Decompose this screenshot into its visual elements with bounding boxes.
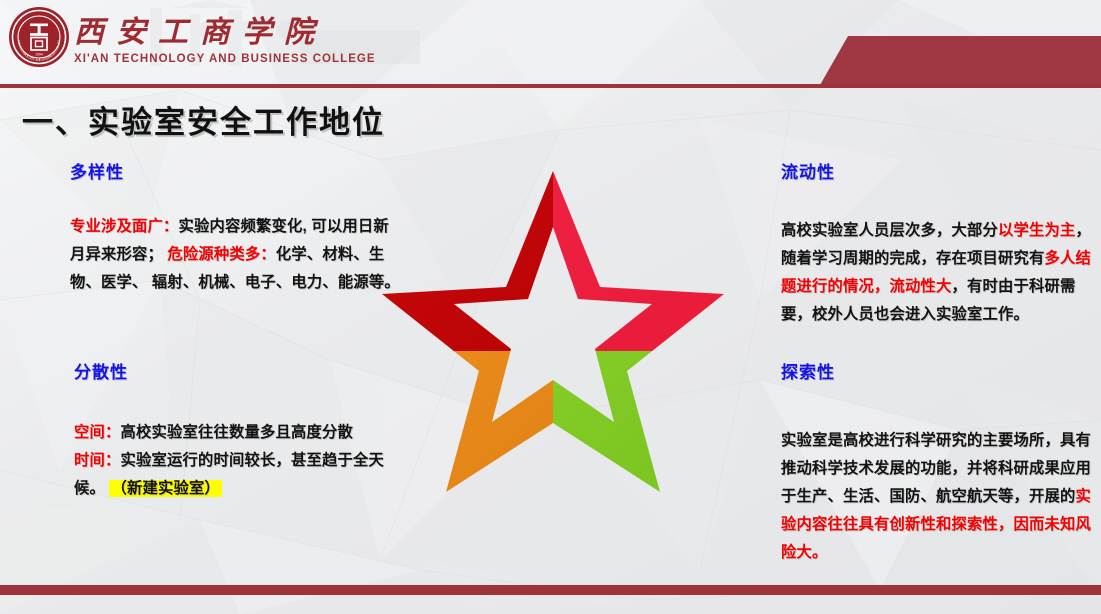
block-body-mobility: 高校实验室人员层次多，大部分以学生为主，随着学习周期的完成，存在项目研究有多人结… — [781, 217, 1101, 329]
block-body-diversity: 专业涉及面广：实验内容频繁变化, 可以用日新月异来形容； 危险源种类多：化学、材… — [70, 213, 400, 297]
slide-header: 1994 XI'AN TECH & BUSINESS XI'AN TECHNOL… — [0, 0, 1101, 86]
body-text: 实验室是高校进行科学研究的主要场所，具有推动科学技术发展的功能，并将科研成果应用… — [781, 432, 1091, 505]
block-body-dispersion: 空间：高校实验室往往数量多且高度分散 时间：实验室运行的时间较长，甚至趋于全天候… — [74, 419, 404, 503]
content-block-mobility: 流动性 高校实验室人员层次多，大部分以学生为主，随着学习周期的完成，存在项目研究… — [781, 158, 1101, 329]
header-divider-line — [0, 84, 1101, 88]
logo-english-name: XI'AN TECHNOLOGY AND BUSINESS COLLEGE — [74, 53, 376, 65]
emphasis-text: 以学生为主 — [998, 222, 1076, 239]
university-seal-icon: 1994 XI'AN TECH & BUSINESS XI'AN TECHNOL… — [8, 6, 70, 68]
five-point-star-outline-icon — [368, 165, 738, 510]
star-quadrant-upper-left — [368, 165, 553, 351]
star-quadrant-lower-left — [368, 351, 553, 510]
content-block-diversity: 多样性 专业涉及面广：实验内容频繁变化, 可以用日新月异来形容； 危险源种类多：… — [70, 158, 400, 297]
block-heading-diversity: 多样性 — [70, 158, 400, 183]
emphasis-text: 危险源种类多： — [163, 246, 276, 263]
logo-wordmark: 西安工商学院 XI'AN TECHNOLOGY AND BUSINESS COL… — [74, 18, 376, 65]
page-title: 一、实验室安全工作地位 — [22, 97, 385, 142]
block-body-exploration: 实验室是高校进行科学研究的主要场所，具有推动科学技术发展的功能，并将科研成果应用… — [781, 427, 1101, 567]
block-heading-exploration: 探索性 — [781, 358, 1101, 383]
emphasis-text: 专业涉及面广： — [70, 218, 178, 235]
content-block-exploration: 探索性 实验室是高校进行科学研究的主要场所，具有推动科学技术发展的功能，并将科研… — [781, 358, 1101, 567]
logo-chinese-name: 西安工商学院 — [74, 18, 376, 48]
highlighted-note: （新建实验室） — [109, 480, 221, 497]
header-red-banner — [820, 36, 1101, 85]
body-text: 高校实验室往往数量多且高度分散 — [121, 424, 353, 441]
block-heading-dispersion: 分散性 — [74, 358, 404, 383]
footer-red-bar — [0, 585, 1101, 595]
presentation-slide: 1994 XI'AN TECH & BUSINESS XI'AN TECHNOL… — [0, 0, 1101, 614]
content-block-dispersion: 分散性 空间：高校实验室往往数量多且高度分散 时间：实验室运行的时间较长，甚至趋… — [74, 358, 404, 503]
svg-text:1994: 1994 — [35, 53, 43, 57]
emphasis-text: 空间： — [74, 424, 121, 441]
body-text: 高校实验室人员层次多，大部分 — [781, 222, 998, 239]
star-quadrant-lower-right — [553, 351, 738, 510]
star-quadrant-upper-right — [553, 165, 738, 351]
block-heading-mobility: 流动性 — [781, 158, 1101, 183]
emphasis-text: 时间： — [74, 452, 121, 469]
